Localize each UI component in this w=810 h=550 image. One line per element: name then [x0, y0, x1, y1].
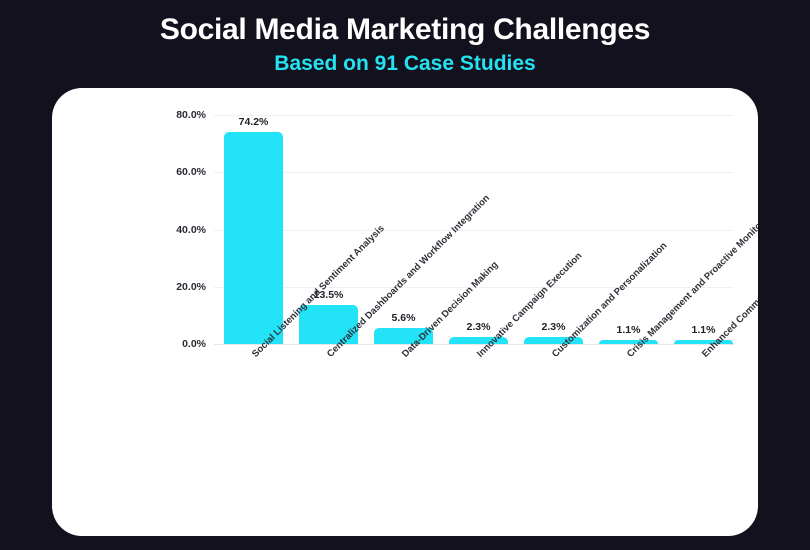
y-tick-text: 40.0%: [100, 224, 206, 236]
bar-value-label: 74.2%: [216, 116, 291, 128]
bar-chart: 0.0%20.0%40.0%60.0%80.0% 74.2%13.5%5.6%2…: [52, 88, 758, 536]
y-tick-text: 60.0%: [100, 166, 206, 178]
bar-slot[interactable]: 74.2%: [216, 112, 291, 344]
page-title: Social Media Marketing Challenges: [0, 10, 810, 50]
y-axis-tick-label: 20.0%: [100, 281, 206, 293]
y-tick-text: 0.0%: [100, 338, 206, 350]
y-axis-tick-label: 40.0%: [100, 224, 206, 236]
bar[interactable]: [224, 132, 283, 344]
y-tick-text: 20.0%: [100, 281, 206, 293]
y-axis-tick-label: 80.0%: [100, 109, 206, 121]
chart-header: Social Media Marketing Challenges Based …: [0, 0, 810, 88]
y-axis-tick-label: 60.0%: [100, 166, 206, 178]
y-axis-tick-label: 0.0%: [100, 338, 206, 350]
chart-card: 0.0%20.0%40.0%60.0%80.0% 74.2%13.5%5.6%2…: [52, 88, 758, 536]
y-tick-text: 80.0%: [100, 109, 206, 121]
page-subtitle: Based on 91 Case Studies: [0, 50, 810, 78]
